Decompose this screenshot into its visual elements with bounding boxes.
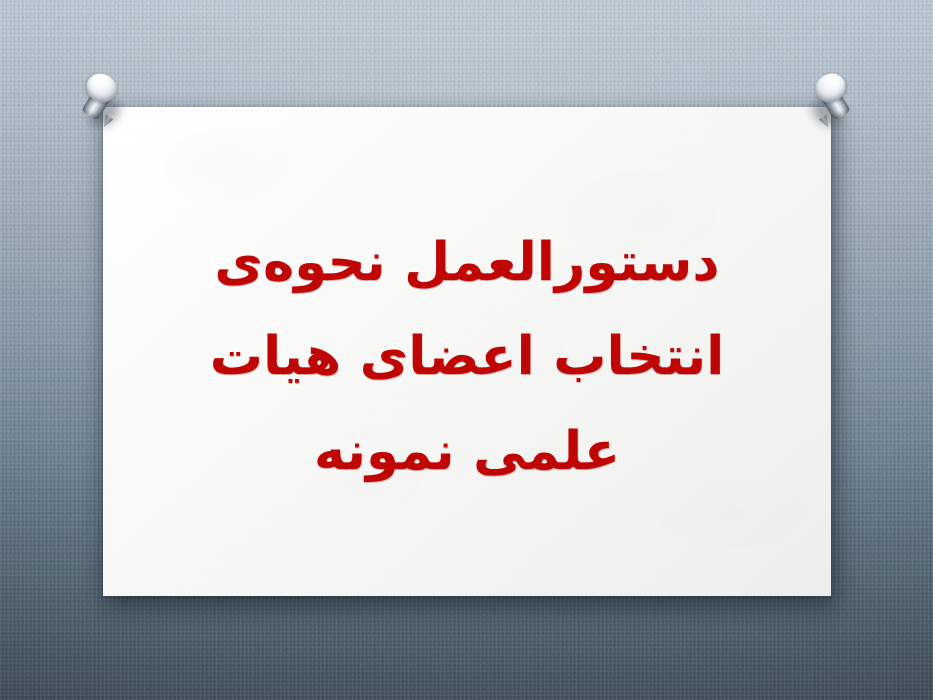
title-line-2: انتخاب اعضای هیات [210, 327, 725, 387]
slide-title: دستورالعمل نحوه‌ی انتخاب اعضای هیات علمی… [103, 107, 831, 596]
pushpin-left-icon [80, 72, 134, 134]
pushpin-right-icon [798, 72, 852, 134]
slide-canvas: دستورالعمل نحوه‌ی انتخاب اعضای هیات علمی… [0, 0, 933, 700]
title-line-1: دستورالعمل نحوه‌ی [214, 233, 719, 293]
title-line-3: علمی نمونه [314, 422, 620, 482]
